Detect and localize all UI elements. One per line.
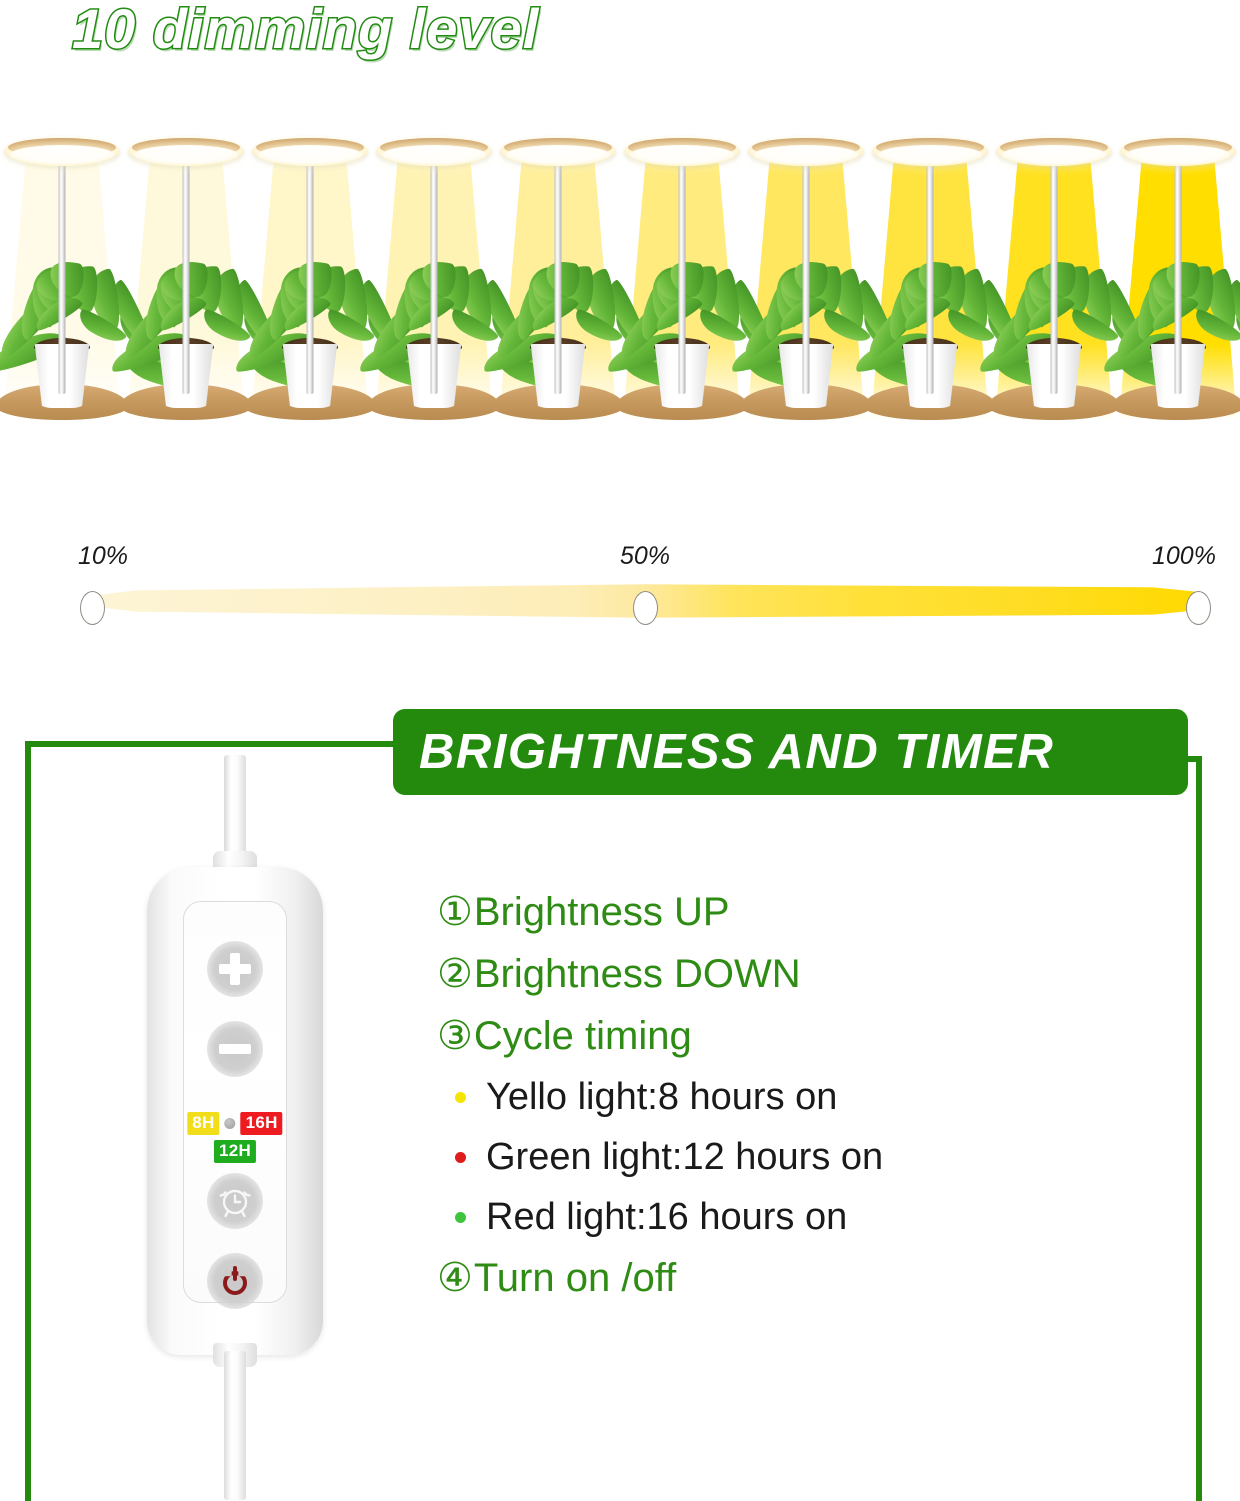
minus-icon [219,1044,251,1054]
lamp-pole [803,152,810,394]
page-title: 10 dimming level [72,0,539,61]
lamp-head [996,136,1112,166]
plus-icon [230,953,240,985]
instruction-number: ③ [437,1016,473,1056]
timer-indicator-row-1: 8H 16H [187,1112,282,1135]
slider-handle-100[interactable] [1186,591,1211,625]
brightness-slider[interactable]: 10%50%100% [0,520,1240,640]
lamp-unit [248,120,372,420]
instruction-number: ② [437,954,473,994]
lamp-unit [992,120,1116,420]
led-indicator [225,1118,236,1129]
lamp-head [128,136,244,166]
instruction-label: Turn on /off [474,1256,676,1301]
instruction-number: ④ [437,1258,473,1298]
slider-tick-label: 100% [1152,542,1216,571]
brightness-down-button[interactable] [207,1021,263,1077]
lamp-head [1120,136,1236,166]
sub-item-label: Yello light:8 hours on [486,1076,837,1119]
lamp-pole [1051,152,1058,394]
badge-16h: 16H [241,1112,283,1135]
instruction-label: Brightness UP [474,890,730,935]
power-button[interactable] [207,1253,263,1309]
lamp-pole [431,152,438,394]
lamp-head [872,136,988,166]
sub-item-yellow: Yello light:8 hours on [455,1076,1177,1119]
cable-top [224,755,246,861]
section-banner: BRIGHTNESS AND TIMER [393,709,1188,795]
leaf [1234,347,1240,399]
instruction-number: ① [437,892,473,932]
sub-item-label: Red light:16 hours on [486,1196,847,1239]
lamp-head [4,136,120,166]
lamp-pole [59,152,66,394]
lamp-unit [620,120,744,420]
lamp-pole [183,152,190,394]
slider-handle-10[interactable] [80,591,105,625]
instruction-list: ① Brightness UP ② Brightness DOWN ③ Cycl… [437,890,1177,1318]
lamp-unit [0,120,124,420]
controller-device: 8H 16H 12H [130,755,340,1500]
frame-border-left [25,741,31,1501]
slider-handle-50[interactable] [633,591,658,625]
frame-border-right [1196,756,1202,1501]
cable-bottom [224,1351,246,1500]
lamp-pole [1175,152,1182,394]
brightness-up-button[interactable] [207,941,263,997]
lamp-unit [372,120,496,420]
lamp-head [376,136,492,166]
power-icon [220,1266,250,1296]
lamp-pole [927,152,934,394]
instruction-item-1: ① Brightness UP [437,890,1177,935]
slider-tick-label: 50% [620,542,670,571]
lamp-head [500,136,616,166]
badge-12h: 12H [214,1140,256,1163]
lamp-strip-illustration [0,120,1240,420]
bullet-dot [455,1152,466,1163]
bullet-dot [455,1092,466,1103]
lamp-unit [744,120,868,420]
instruction-item-4: ④ Turn on /off [437,1256,1177,1301]
sub-item-label: Green light:12 hours on [486,1136,883,1179]
lamp-unit [124,120,248,420]
lamp-unit [496,120,620,420]
lamp-unit [868,120,992,420]
instruction-item-2: ② Brightness DOWN [437,952,1177,997]
frame-border-top [25,741,403,747]
slider-tick-label: 10% [78,542,128,571]
timer-indicator-row-2: 12H [214,1140,256,1163]
lamp-unit [1116,120,1240,420]
bullet-dot [455,1212,466,1223]
lamp-pole [307,152,314,394]
alarm-clock-icon [216,1182,254,1220]
sub-item-green: Green light:12 hours on [455,1136,1177,1179]
badge-8h: 8H [187,1112,219,1135]
sub-item-red: Red light:16 hours on [455,1196,1177,1239]
lamp-pole [555,152,562,394]
lamp-pole [679,152,686,394]
instruction-label: Brightness DOWN [474,952,801,997]
timer-button[interactable] [207,1173,263,1229]
lamp-head [624,136,740,166]
lamp-head [748,136,864,166]
section-banner-title: BRIGHTNESS AND TIMER [419,724,1054,780]
instruction-item-3: ③ Cycle timing [437,1014,1177,1059]
lamp-head [252,136,368,166]
instruction-label: Cycle timing [474,1014,692,1059]
plant [1103,238,1240,408]
